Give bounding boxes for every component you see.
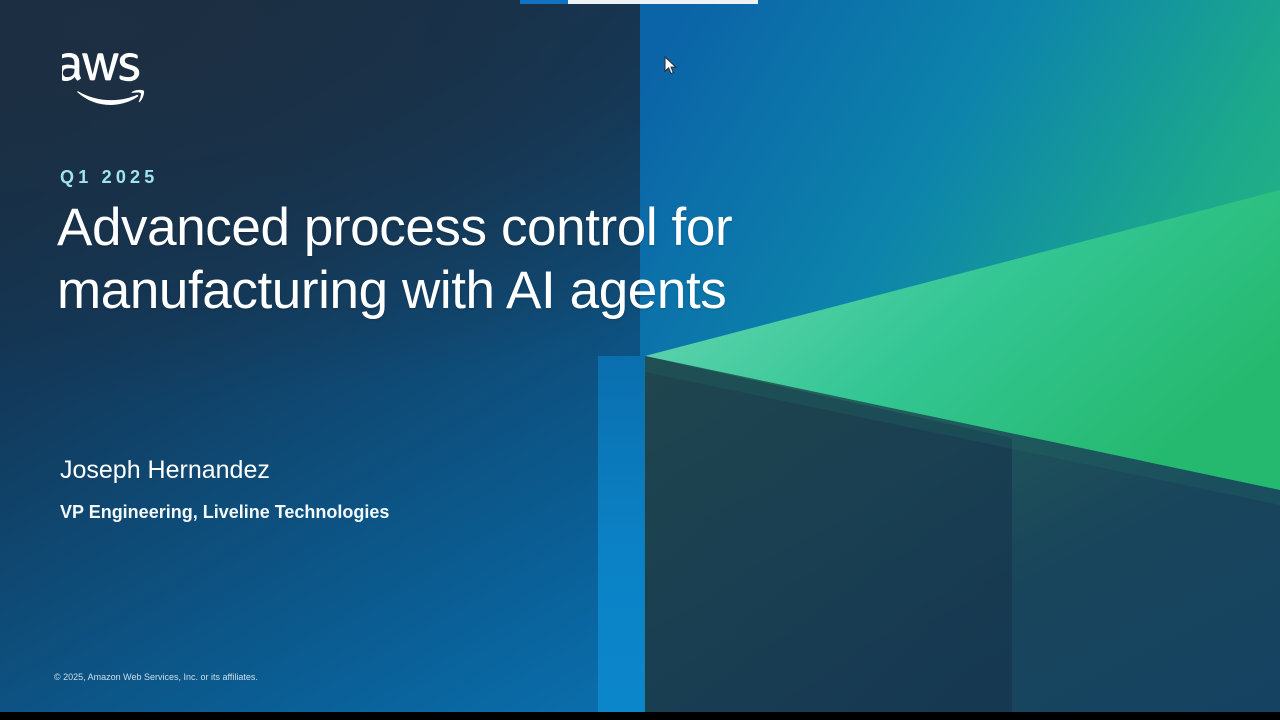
letterbox-bar: [0, 712, 1280, 720]
copyright-footer: © 2025, Amazon Web Services, Inc. or its…: [54, 672, 258, 682]
page-title: Advanced process control for manufacturi…: [57, 196, 897, 322]
slide-eyebrow: Q1 2025: [60, 167, 158, 188]
speaker-name: Joseph Hernandez: [60, 456, 270, 485]
aws-logo: [62, 46, 174, 112]
presentation-slide: Q1 2025 Advanced process control for man…: [0, 0, 1280, 712]
screen: Q1 2025 Advanced process control for man…: [0, 0, 1280, 720]
speaker-role: VP Engineering, Liveline Technologies: [60, 502, 389, 523]
geometric-artwork: [0, 0, 1280, 712]
